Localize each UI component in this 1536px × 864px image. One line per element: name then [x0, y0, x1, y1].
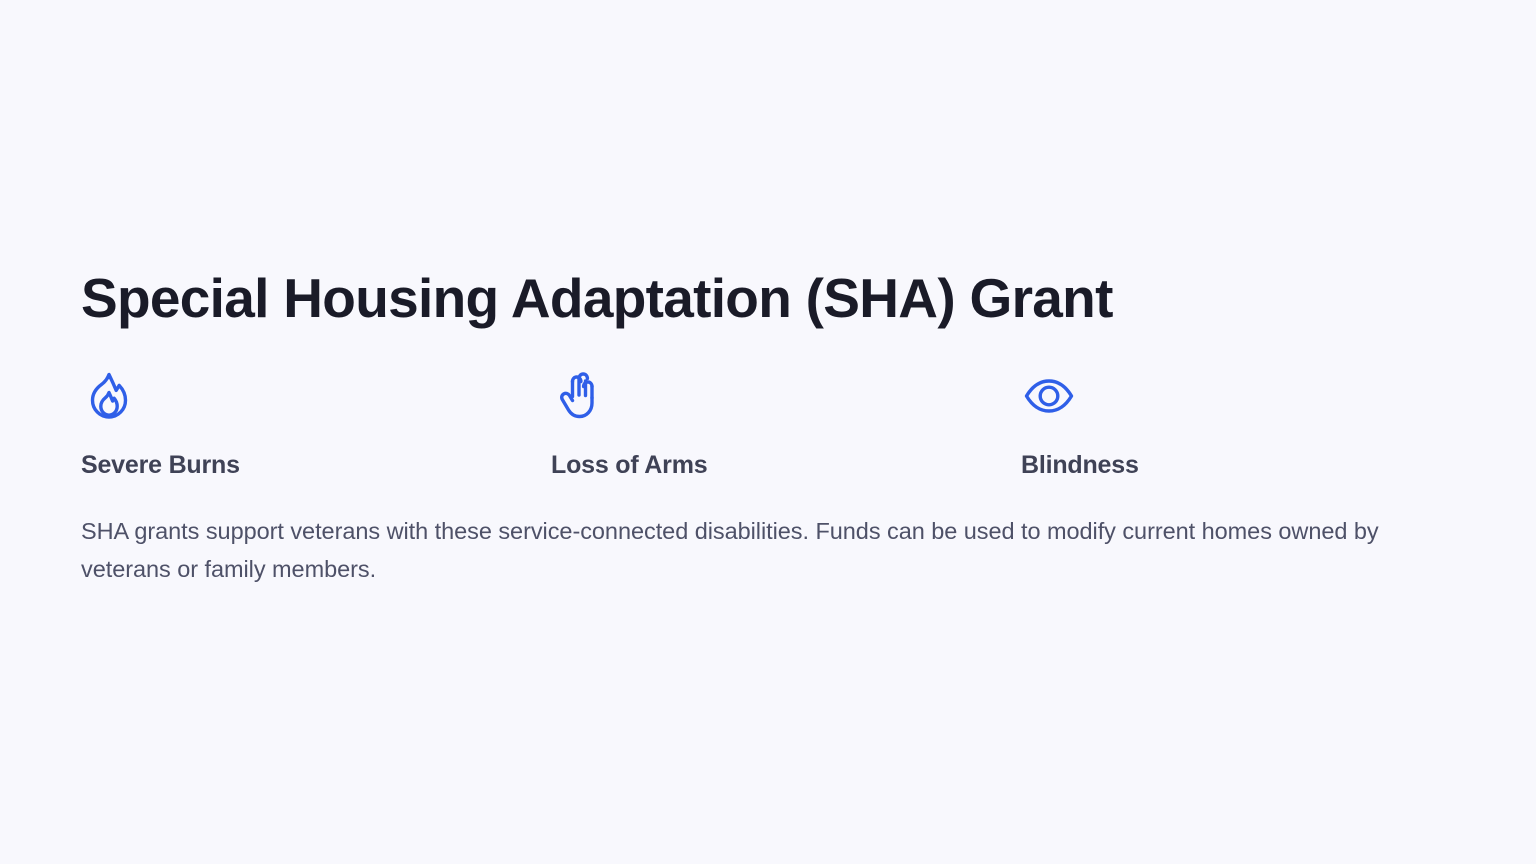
flame-icon	[81, 368, 137, 424]
content-container: Special Housing Adaptation (SHA) Grant S…	[81, 268, 1455, 612]
feature-item-loss-of-arms: Loss of Arms	[551, 368, 1021, 480]
feature-item-severe-burns: Severe Burns	[81, 368, 551, 480]
feature-list: Severe Burns Loss of Arms	[81, 368, 1455, 480]
eye-icon	[1021, 368, 1077, 424]
feature-item-blindness: Blindness	[1021, 368, 1491, 480]
feature-label: Blindness	[1021, 450, 1491, 480]
feature-label: Severe Burns	[81, 450, 551, 480]
page-title: Special Housing Adaptation (SHA) Grant	[81, 268, 1455, 330]
hand-icon	[551, 368, 607, 424]
slide-root: Special Housing Adaptation (SHA) Grant S…	[0, 0, 1536, 864]
description-text: SHA grants support veterans with these s…	[81, 512, 1429, 589]
feature-label: Loss of Arms	[551, 450, 1021, 480]
